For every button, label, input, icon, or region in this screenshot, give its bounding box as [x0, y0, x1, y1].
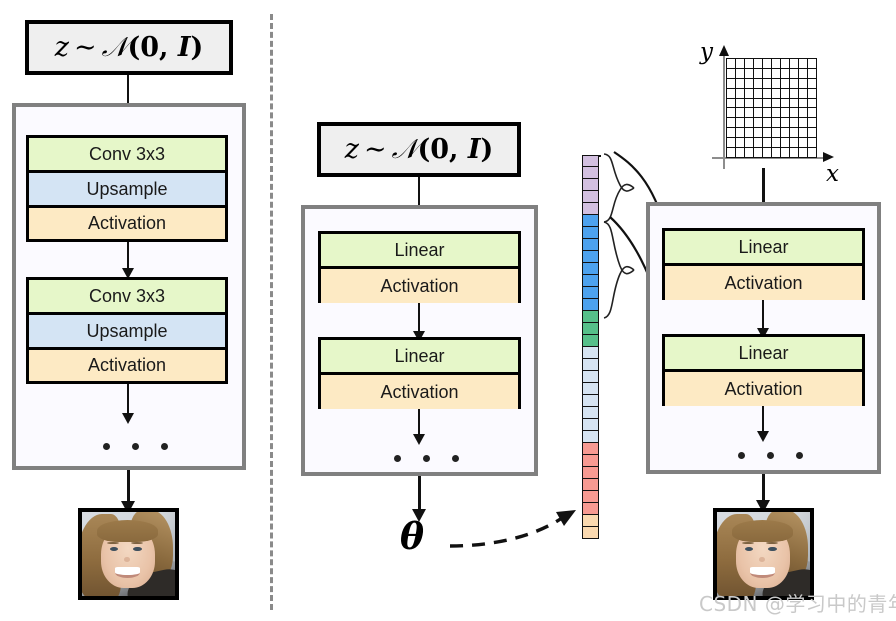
ellipsis-dot [132, 443, 139, 450]
grid-cell [772, 138, 781, 148]
arrow-hyper-block-2-to-ellipsis-head [413, 434, 425, 445]
arrow-conv-block-2-to-ellipsis [127, 384, 129, 415]
conv-block-2: Conv 3x3 Upsample Activation [26, 277, 228, 384]
grid-cell [763, 79, 772, 89]
arrow-implicit-block-2-to-ellipsis-head [757, 431, 769, 442]
latent-expression-middle: z∼𝒩(0, I) [345, 134, 494, 166]
grid-cell [781, 148, 790, 158]
coordinate-grid-plot: y x [690, 35, 850, 180]
hyper-block-1-row-activation: Activation [321, 269, 518, 303]
grid-cell [790, 69, 799, 79]
grid-cell [763, 128, 772, 138]
grid-cell [808, 59, 817, 69]
sample-grid [726, 58, 817, 158]
grid-cell [727, 138, 736, 148]
grid-cell [790, 138, 799, 148]
conv-block-2-row-conv: Conv 3x3 [29, 280, 225, 315]
parameter-vector-cell [582, 419, 599, 431]
grid-cell [772, 148, 781, 158]
grid-cell [808, 148, 817, 158]
hyper-block-2-row-activation: Activation [321, 375, 518, 409]
grid-cell [745, 118, 754, 128]
grid-cell [727, 69, 736, 79]
parameter-vector-cell [582, 467, 599, 479]
hyper-block-1: Linear Activation [318, 231, 521, 303]
grid-cell [736, 59, 745, 69]
parameter-vector-cell [582, 263, 599, 275]
grid-cell [727, 118, 736, 128]
grid-cell [799, 59, 808, 69]
grid-cell [745, 99, 754, 109]
grid-cell [772, 59, 781, 69]
grid-cell [799, 128, 808, 138]
grid-cell [736, 99, 745, 109]
grid-cell [772, 128, 781, 138]
conv-ellipsis [103, 443, 168, 450]
grid-cell [754, 138, 763, 148]
hyper-block-2: Linear Activation [318, 337, 521, 409]
grid-cell [772, 69, 781, 79]
grid-cell [736, 128, 745, 138]
grid-cell [772, 118, 781, 128]
grid-cell [808, 128, 817, 138]
parameter-vector-cell [582, 503, 599, 515]
y-axis-line [723, 53, 725, 169]
grid-cell [781, 138, 790, 148]
grid-cell [781, 69, 790, 79]
grid-cell [790, 148, 799, 158]
parameter-vector-cell [582, 335, 599, 347]
parameter-vector-cell [582, 275, 599, 287]
arrow-implicit-block-1-to-2 [762, 300, 764, 330]
parameter-vector-cell [582, 371, 599, 383]
x-axis-label: x [826, 161, 839, 187]
conv-block-1-row-upsample: Upsample [29, 173, 225, 208]
parameter-vector-cell [582, 251, 599, 263]
ellipsis-dot [394, 455, 401, 462]
parameter-vector-cells [582, 155, 599, 539]
arrow-implicit-block-2-to-ellipsis [762, 406, 764, 433]
grid-cell [763, 138, 772, 148]
grid-cell [799, 79, 808, 89]
grid-cell [736, 138, 745, 148]
parameter-vector-cell [582, 239, 599, 251]
grid-cell [763, 69, 772, 79]
conv-block-2-row-activation: Activation [29, 350, 225, 381]
ellipsis-dot [767, 452, 774, 459]
parameter-vector-cell [582, 359, 599, 371]
grid-cell [727, 89, 736, 99]
grid-cell [808, 89, 817, 99]
grid-cell [745, 148, 754, 158]
grid-cell [754, 89, 763, 99]
grid-cell [745, 89, 754, 99]
parameter-vector-cell [582, 179, 599, 191]
grid-cell [799, 138, 808, 148]
parameter-vector-cell [582, 155, 599, 167]
parameter-vector-cell [582, 167, 599, 179]
grid-cell [736, 118, 745, 128]
parameter-vector-cell [582, 443, 599, 455]
parameter-vector-cell [582, 347, 599, 359]
output-face-image-left [78, 508, 179, 600]
grid-cell [763, 89, 772, 99]
hyper-block-1-row-linear: Linear [321, 234, 518, 269]
panel-divider [270, 14, 273, 610]
y-axis-arrow [719, 45, 729, 56]
parameter-vector-cell [582, 215, 599, 227]
grid-cell [745, 128, 754, 138]
implicit-block-2-row-activation: Activation [665, 372, 862, 406]
grid-cell [790, 99, 799, 109]
output-face-image-right [713, 508, 814, 600]
grid-cell [799, 89, 808, 99]
grid-cell [772, 99, 781, 109]
grid-cell [727, 79, 736, 89]
grid-cell [736, 89, 745, 99]
ellipsis-dot [738, 452, 745, 459]
parameter-vector-cell [582, 203, 599, 215]
grid-cell [781, 99, 790, 109]
y-axis-label: y [700, 39, 713, 65]
implicit-block-2: Linear Activation [662, 334, 865, 406]
grid-cell [754, 69, 763, 79]
grid-cell [799, 108, 808, 118]
grid-cell [781, 79, 790, 89]
parameter-vector-cell [582, 455, 599, 467]
parameter-vector-cell [582, 383, 599, 395]
parameter-vector-cell [582, 479, 599, 491]
grid-cell [763, 118, 772, 128]
parameter-vector-cell [582, 431, 599, 443]
parameter-vector-cell [582, 323, 599, 335]
grid-cell [736, 69, 745, 79]
grid-cell [808, 108, 817, 118]
grid-cell [745, 138, 754, 148]
grid-cell [763, 148, 772, 158]
grid-cell [754, 99, 763, 109]
grid-cell [763, 99, 772, 109]
grid-cell [790, 128, 799, 138]
latent-expression-left: z∼𝒩(0, I) [55, 32, 204, 64]
grid-cell [754, 79, 763, 89]
grid-cell [808, 138, 817, 148]
latent-variable-box-left: z∼𝒩(0, I) [25, 20, 233, 75]
grid-cell [727, 99, 736, 109]
conv-block-1-row-conv: Conv 3x3 [29, 138, 225, 173]
grid-cell [799, 69, 808, 79]
grid-cell [781, 89, 790, 99]
grid-cell [727, 108, 736, 118]
grid-cell [772, 79, 781, 89]
parameter-vector-cell [582, 227, 599, 239]
hyper-block-2-row-linear: Linear [321, 340, 518, 375]
arrow-hyper-block-2-to-ellipsis [418, 409, 420, 436]
grid-cell [781, 59, 790, 69]
arrow-conv-block-2-to-ellipsis-head [122, 413, 134, 424]
grid-cell [727, 148, 736, 158]
grid-cell [808, 79, 817, 89]
grid-cell [754, 148, 763, 158]
ellipsis-dot [796, 452, 803, 459]
grid-cell [745, 108, 754, 118]
grid-cell [763, 59, 772, 69]
figure-canvas: z∼𝒩(0, I) Conv 3x3 Upsample Activation C… [0, 0, 896, 621]
grid-cell [754, 118, 763, 128]
parameter-vector-cell [582, 515, 599, 527]
grid-cell [799, 99, 808, 109]
parameter-vector-cell [582, 491, 599, 503]
implicit-block-1-row-activation: Activation [665, 266, 862, 300]
parameter-vector-cell [582, 191, 599, 203]
grid-cell [736, 79, 745, 89]
implicit-block-1: Linear Activation [662, 228, 865, 300]
implicit-block-1-row-linear: Linear [665, 231, 862, 266]
implicit-ellipsis [738, 452, 803, 459]
grid-cell [754, 59, 763, 69]
grid-cell [772, 108, 781, 118]
parameter-vector-cell [582, 407, 599, 419]
csdn-watermark: CSDN @学习中的青年 [699, 588, 896, 617]
grid-cell [763, 108, 772, 118]
grid-cell [745, 69, 754, 79]
grid-cell [790, 89, 799, 99]
parameter-vector-cell [582, 287, 599, 299]
ellipsis-dot [103, 443, 110, 450]
parameter-vector-cell [582, 395, 599, 407]
arrow-conv-block-1-to-2 [127, 242, 129, 270]
grid-cell [754, 128, 763, 138]
conv-block-1-row-activation: Activation [29, 208, 225, 239]
conv-block-2-row-upsample: Upsample [29, 315, 225, 350]
latent-variable-box-middle: z∼𝒩(0, I) [317, 122, 521, 177]
arrow-theta-to-vector [440, 480, 600, 580]
ellipsis-dot [161, 443, 168, 450]
ellipsis-dot [423, 455, 430, 462]
arrow-hyper-block-1-to-2 [418, 303, 420, 333]
grid-cell [790, 118, 799, 128]
conv-block-1: Conv 3x3 Upsample Activation [26, 135, 228, 242]
parameter-vector-cell [582, 299, 599, 311]
grid-cell [808, 118, 817, 128]
grid-cell [745, 59, 754, 69]
grid-cell [799, 148, 808, 158]
grid-cell [808, 99, 817, 109]
grid-cell [781, 108, 790, 118]
grid-cell [727, 59, 736, 69]
grid-cell [799, 118, 808, 128]
grid-cell [772, 89, 781, 99]
grid-cell [754, 108, 763, 118]
implicit-block-2-row-linear: Linear [665, 337, 862, 372]
theta-symbol: θ [400, 516, 424, 558]
grid-cell [781, 118, 790, 128]
grid-cell [781, 128, 790, 138]
grid-cell [790, 59, 799, 69]
grid-cell [736, 148, 745, 158]
grid-cell [736, 108, 745, 118]
grid-cell [790, 79, 799, 89]
ellipsis-dot [452, 455, 459, 462]
grid-cell [745, 79, 754, 89]
grid-cell [790, 108, 799, 118]
parameter-vector-cell [582, 311, 599, 323]
grid-cell [808, 69, 817, 79]
parameter-vector-cell [582, 527, 599, 539]
grid-cell [727, 128, 736, 138]
hyper-ellipsis [394, 455, 459, 462]
